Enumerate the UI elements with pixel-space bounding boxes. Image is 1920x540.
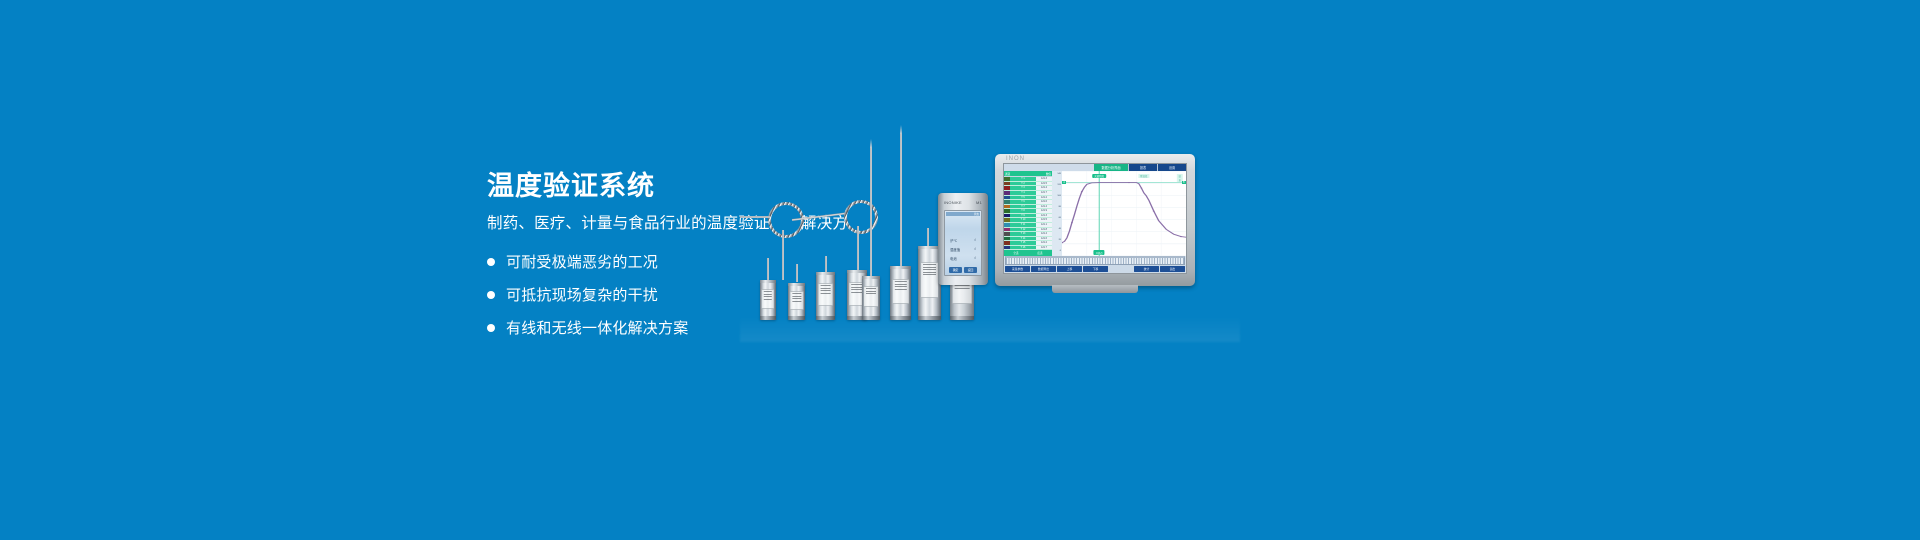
logger-label xyxy=(864,286,878,307)
probe-wire xyxy=(740,216,770,218)
timeline-scrollbar[interactable] xyxy=(1005,256,1185,265)
data-export-button[interactable]: 数据导出 xyxy=(1031,266,1056,273)
needle-probe-icon xyxy=(900,134,902,282)
logger-label xyxy=(790,291,803,310)
channel-name: T 11 xyxy=(1010,223,1036,227)
handheld-status-row: 湿度值 √ xyxy=(945,247,981,252)
cursor-top-label[interactable]: 灭菌阶段 xyxy=(1092,174,1106,179)
channel-col-header-name: 通道 xyxy=(1005,172,1010,176)
coiled-probe-icon xyxy=(844,200,878,234)
channel-name: T 9 xyxy=(1010,214,1036,218)
channel-value: 121.5 xyxy=(1036,218,1052,222)
logger-label xyxy=(762,289,774,309)
monitor-brand: INON xyxy=(1006,156,1025,162)
channel-name: T 7 xyxy=(1010,205,1036,209)
y-tick-label: 140 xyxy=(1057,173,1061,175)
handheld-titlebar: 状态 xyxy=(946,212,980,216)
temperature-curve-plot[interactable]: 灭菌阶段 开始点 降温段 结束 A B xyxy=(1062,171,1186,256)
coiled-probe-icon xyxy=(768,202,804,238)
channel-value: 121.1 xyxy=(1036,223,1052,227)
temperature-curve-svg xyxy=(1062,171,1186,256)
command-bar-spacer xyxy=(1109,266,1133,273)
channel-value: 121.4 xyxy=(1036,186,1052,190)
handheld-row-label: 湿度值 xyxy=(950,247,960,252)
channel-value: 121.2 xyxy=(1036,241,1052,245)
edge-marker-a[interactable]: A xyxy=(1062,181,1066,185)
channel-name: T 1 xyxy=(1010,177,1036,181)
channel-value: 121.3 xyxy=(1036,214,1052,218)
handheld-status-row: 沪℃ √ xyxy=(945,238,981,243)
channel-value: 121.7 xyxy=(1036,191,1052,195)
channel-name: T 5 xyxy=(1010,196,1036,200)
data-logger xyxy=(890,266,911,320)
handheld-status-row: 电池 √ xyxy=(945,256,981,261)
software-tabbar: 数据分析界面 报表 设置 xyxy=(1004,164,1186,171)
channel-name: T 10 xyxy=(1010,218,1036,222)
data-logger xyxy=(788,283,805,320)
y-tick-label: 120 xyxy=(1057,184,1061,186)
channel-name: T 6 xyxy=(1010,200,1036,204)
y-tick-label: 0 xyxy=(1060,250,1061,252)
monitor-stand xyxy=(1052,285,1138,293)
handheld-reader[interactable]: INONIKE M1 状态 沪℃ √ 湿度值 √ 电池 √ xyxy=(938,193,988,285)
channel-name: T 2 xyxy=(1010,182,1036,186)
statistics-button[interactable]: 统计 xyxy=(1134,266,1159,273)
validation-software-window: 数据分析界面 报表 设置 通道 数值 xyxy=(1003,163,1187,274)
channel-name: T 3 xyxy=(1010,186,1036,190)
channel-name: T 8 xyxy=(1010,209,1036,213)
feature-bullet-label: 可抵抗现场复杂的干扰 xyxy=(506,284,658,305)
channel-value: 121.6 xyxy=(1036,200,1052,204)
move-down-button[interactable]: 下移 xyxy=(1083,266,1108,273)
channel-value: 121.6 xyxy=(1036,237,1052,241)
data-logger xyxy=(816,272,835,320)
channel-value: 121.4 xyxy=(1036,205,1052,209)
channel-value: 121.2 xyxy=(1036,196,1052,200)
channel-name: T 15 xyxy=(1010,241,1036,245)
chart-gridlines xyxy=(1062,171,1186,256)
acquisition-params-button[interactable]: 采集参数 xyxy=(1005,266,1030,273)
needle-probe-icon xyxy=(870,148,872,282)
software-command-bar: 采集参数 数据导出 上移 下移 统计 退出 xyxy=(1004,265,1186,273)
handheld-confirm-button[interactable]: 确定 xyxy=(949,267,963,273)
tab-data-analysis[interactable]: 数据分析界面 xyxy=(1094,164,1128,171)
surface-reflection xyxy=(740,316,1240,342)
product-photo-group: INONIKE M1 状态 沪℃ √ 湿度值 √ 电池 √ xyxy=(740,120,1240,320)
handheld-brand-name: INONIKE xyxy=(944,200,962,205)
bullet-dot-icon xyxy=(487,258,495,266)
channel-name: T 12 xyxy=(1010,228,1036,232)
logger-label xyxy=(921,262,939,298)
channel-value: 121.9 xyxy=(1036,209,1052,213)
handheld-row-value: √ xyxy=(974,247,976,252)
handheld-brand: INONIKE M1 xyxy=(944,200,982,205)
handheld-back-button[interactable]: 返回 xyxy=(964,267,978,273)
hero-banner: 温度验证系统 制药、医疗、计量与食品行业的温度验证整体解决方案 可耐受极端恶劣的… xyxy=(0,0,1920,540)
channel-name: T 16 xyxy=(1010,246,1036,250)
handheld-button-bar: 确定 返回 xyxy=(948,267,978,273)
tab-report[interactable]: 报表 xyxy=(1128,164,1157,171)
y-tick-label: 100 xyxy=(1057,195,1061,197)
handheld-row-label: 沪℃ xyxy=(950,238,957,243)
handheld-row-value: √ xyxy=(974,256,976,261)
handheld-row-value: √ xyxy=(974,238,976,243)
handheld-screen[interactable]: 状态 沪℃ √ 湿度值 √ 电池 √ 确定 返回 xyxy=(944,210,982,276)
logger-label xyxy=(892,279,908,304)
channel-value: 121.8 xyxy=(1036,228,1052,232)
channel-value: 121.3 xyxy=(1036,177,1052,181)
data-logger xyxy=(862,276,880,320)
chart-area: 140 120 100 80 60 40 20 0 xyxy=(1052,171,1186,256)
channel-name: T 4 xyxy=(1010,191,1036,195)
feature-bullet-label: 可耐受极端恶劣的工况 xyxy=(506,251,658,272)
monitor-display: INON 数据分析界面 报表 设置 通道 xyxy=(995,154,1195,286)
channel-value: 121.4 xyxy=(1036,232,1052,236)
channel-name: T 14 xyxy=(1010,237,1036,241)
software-body: 通道 数值 T 1 121.3 T 2 121.5 xyxy=(1004,171,1186,256)
channel-list-panel: 通道 数值 T 1 121.3 T 2 121.5 xyxy=(1004,171,1052,256)
exit-button[interactable]: 退出 xyxy=(1160,266,1185,273)
channel-value: 121.7 xyxy=(1036,246,1052,250)
logger-label xyxy=(818,283,833,306)
handheld-row-label: 电池 xyxy=(950,256,957,261)
probe-stem xyxy=(782,230,784,280)
channel-name: T 13 xyxy=(1010,232,1036,236)
bullet-dot-icon xyxy=(487,291,495,299)
chart-y-axis: 140 120 100 80 60 40 20 0 xyxy=(1052,171,1062,256)
curve-data-markers xyxy=(1062,182,1182,243)
chart-hint-label: 降温段 xyxy=(1138,174,1149,179)
y-tick-label: 80 xyxy=(1059,206,1061,208)
bullet-dot-icon xyxy=(487,324,495,332)
data-logger xyxy=(760,280,776,320)
tab-settings[interactable]: 设置 xyxy=(1157,164,1186,171)
y-tick-label: 60 xyxy=(1059,217,1061,219)
temperature-curve xyxy=(1062,183,1186,243)
feature-bullet-label: 有线和无线一体化解决方案 xyxy=(506,317,688,338)
channel-value: 121.5 xyxy=(1036,182,1052,186)
y-tick-label: 20 xyxy=(1059,239,1061,241)
y-tick-label: 40 xyxy=(1059,228,1061,230)
cursor-bottom-label[interactable]: 开始点 xyxy=(1094,250,1105,255)
handheld-model: M1 xyxy=(976,200,982,205)
channel-col-header-value: 数值 xyxy=(1046,172,1051,176)
handheld-screen-title: 状态 xyxy=(974,212,980,216)
move-up-button[interactable]: 上移 xyxy=(1057,266,1082,273)
probe-stem xyxy=(796,264,798,282)
probe-stem xyxy=(767,258,769,282)
edge-marker-b[interactable]: B xyxy=(1182,181,1186,185)
tabbar-spacer xyxy=(1004,164,1094,171)
monitor-bezel: INON 数据分析界面 报表 设置 通道 xyxy=(995,154,1195,286)
